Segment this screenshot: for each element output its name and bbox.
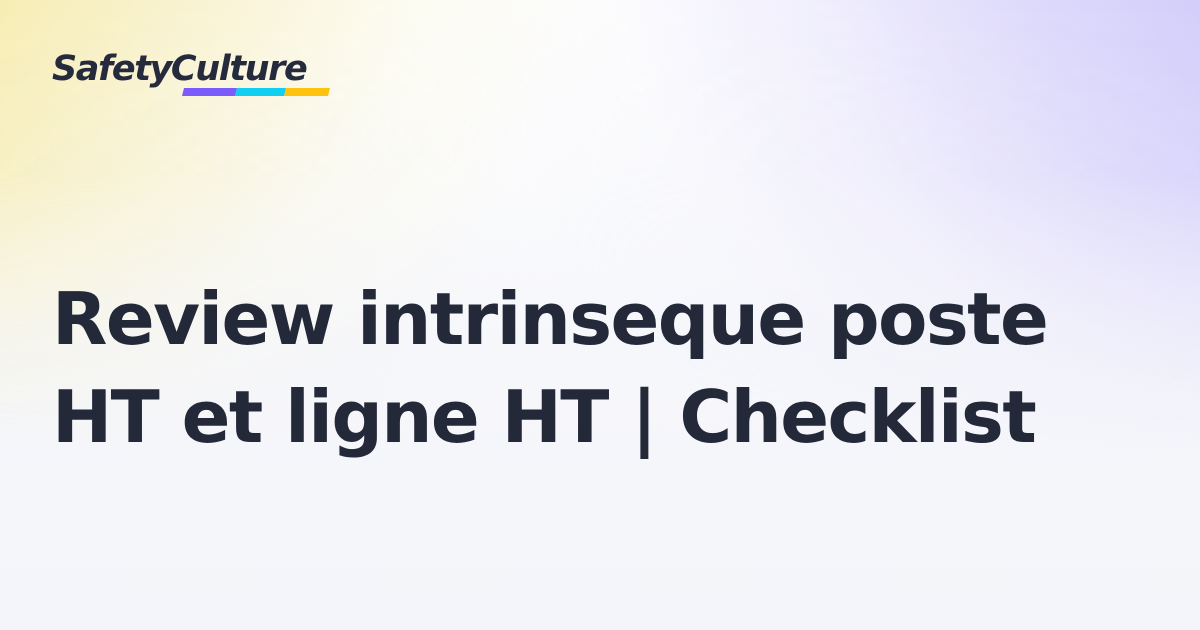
card-content: SafetyCulture Review intrinseque poste H… xyxy=(0,0,1200,630)
brand-underline-accent xyxy=(182,88,330,96)
social-preview-card: SafetyCulture Review intrinseque poste H… xyxy=(0,0,1200,630)
page-title: Review intrinseque poste HT et ligne HT … xyxy=(52,270,1162,466)
underline-cyan-segment xyxy=(235,88,287,96)
brand-wordmark: SafetyCulture xyxy=(52,47,306,91)
underline-purple-segment xyxy=(182,88,237,96)
underline-amber-segment xyxy=(284,88,330,96)
safetyculture-logo[interactable]: SafetyCulture xyxy=(52,47,342,105)
